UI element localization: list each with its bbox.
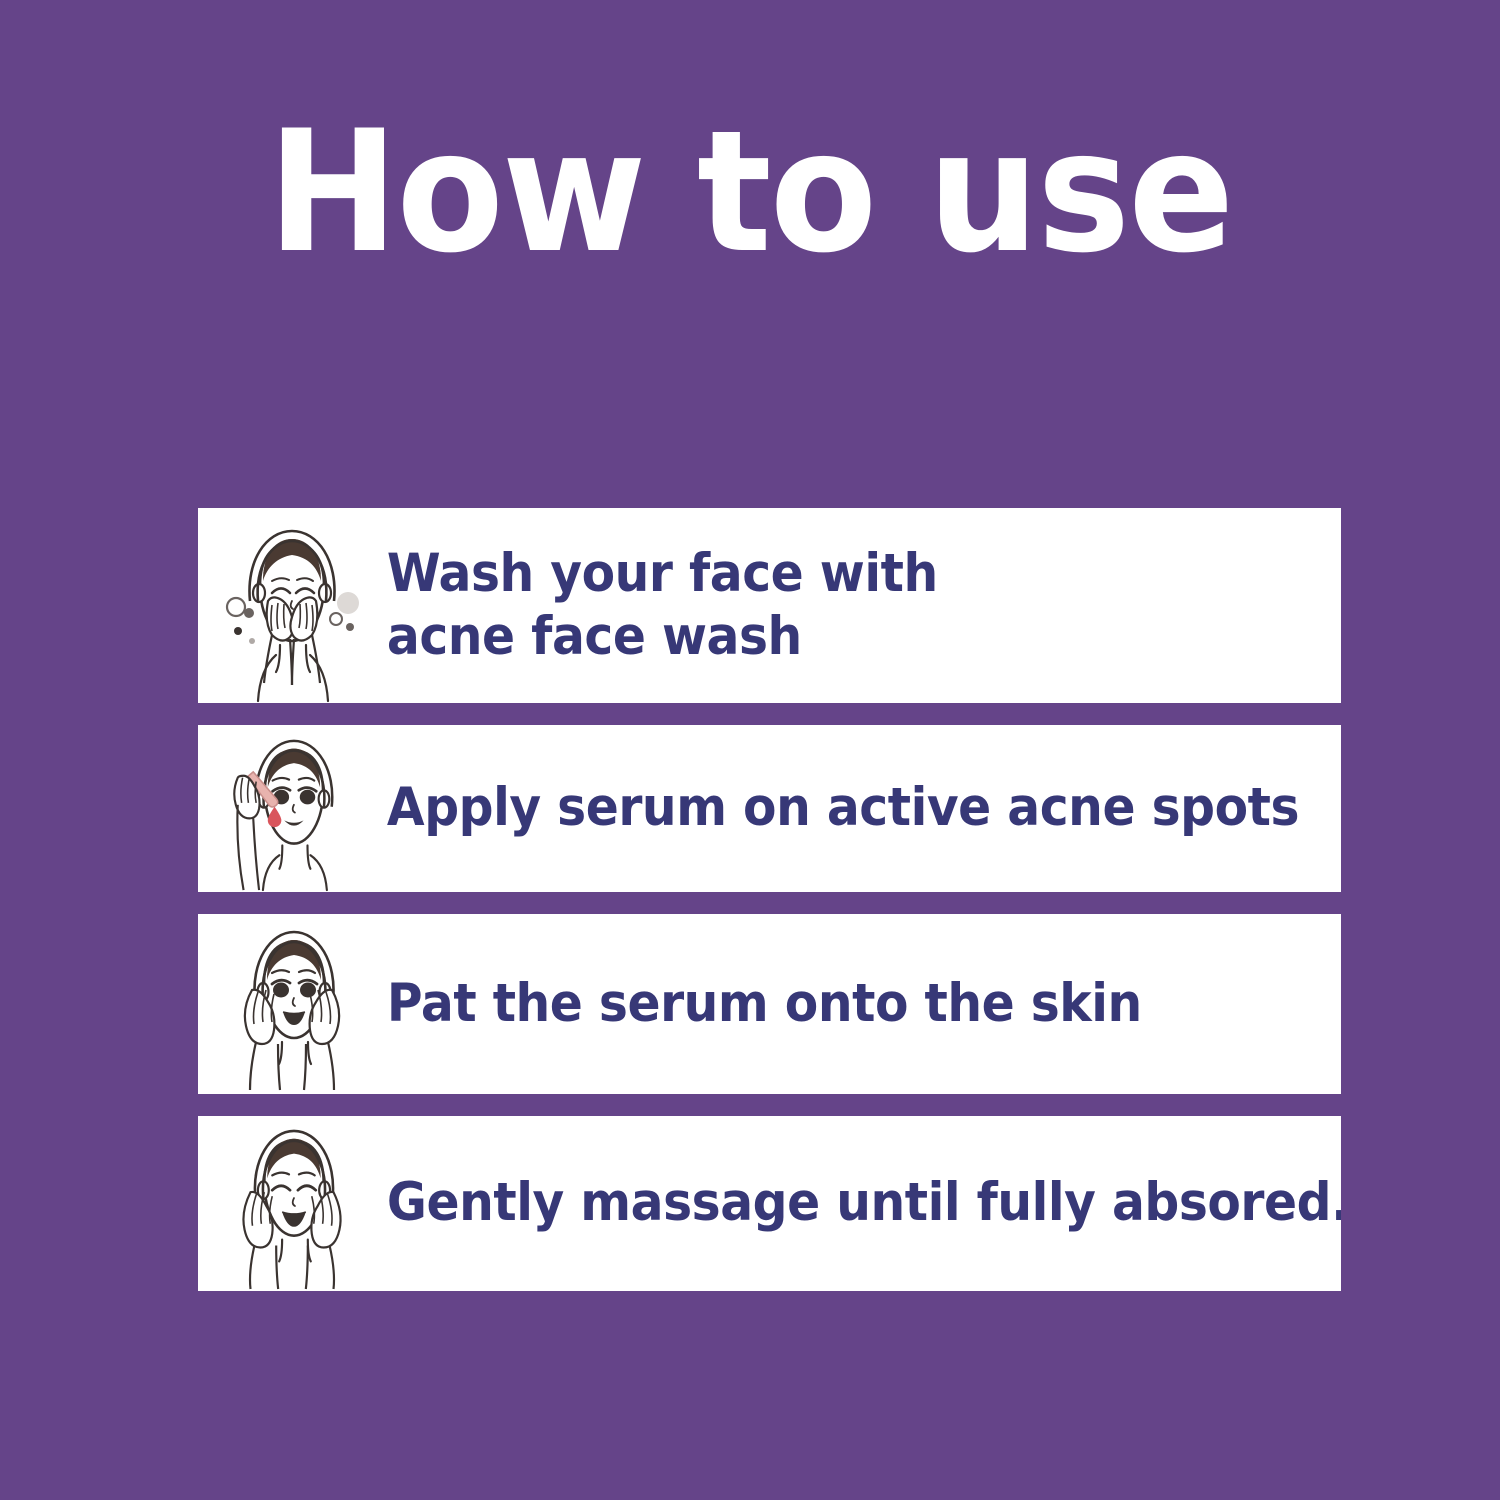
step-text-2: Apply serum on active acne spots (363, 777, 1310, 840)
step-card-3: Pat the serum onto the skin (198, 914, 1341, 1094)
serum-dropper-application-icon (198, 725, 363, 892)
step-card-2: Apply serum on active acne spots (198, 725, 1341, 892)
step-card-1: Wash your face with acne face wash (198, 508, 1341, 703)
step-text-4: Gently massage until fully absored. (363, 1172, 1341, 1235)
step-text-line: Pat the serum onto the skin (387, 973, 1252, 1036)
patting-face-with-hands-icon (198, 914, 363, 1094)
step-card-4: Gently massage until fully absored. (198, 1116, 1341, 1291)
step-text-3: Pat the serum onto the skin (363, 973, 1263, 1036)
face-washing-with-bubbles-icon (198, 508, 363, 703)
massaging-face-icon (198, 1116, 363, 1291)
step-text-line: Apply serum on active acne spots (387, 777, 1299, 840)
step-text-line: Wash your face with (387, 543, 1252, 606)
step-text-line: acne face wash (387, 606, 1252, 669)
steps-list: Wash your face with acne face wash (198, 508, 1341, 1291)
step-text-1: Wash your face with acne face wash (363, 543, 1263, 668)
step-text-line: Gently massage until fully absored. (387, 1172, 1341, 1235)
page-title: How to use (53, 108, 1448, 276)
